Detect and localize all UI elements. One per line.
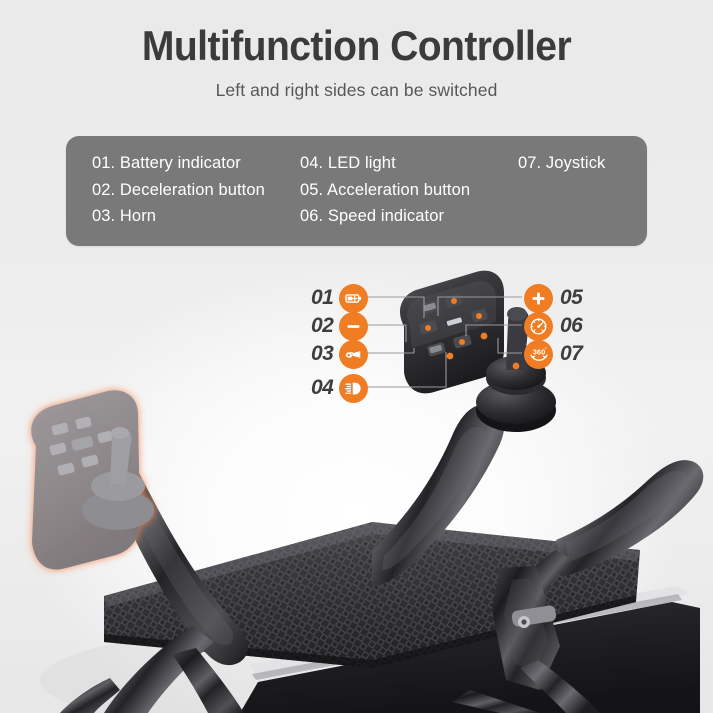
rotate-360-label: 360 xyxy=(532,347,545,356)
callout-06-number: 06 xyxy=(560,314,582,338)
callout-03-horn[interactable]: 03 xyxy=(311,339,368,369)
callout-06-speed-indicator[interactable]: 06 xyxy=(524,311,582,341)
callout-04-led-light[interactable]: 04 xyxy=(311,373,368,403)
callout-01-number: 01 xyxy=(311,286,339,310)
svg-text:°: ° xyxy=(544,347,546,352)
plus-icon xyxy=(524,284,553,313)
horn-icon xyxy=(339,340,368,369)
callout-04-number: 04 xyxy=(311,376,339,400)
callout-07-joystick[interactable]: 360 ° 07 xyxy=(524,339,582,369)
callout-05-number: 05 xyxy=(560,286,582,310)
callout-01-battery-indicator[interactable]: 01 xyxy=(311,283,368,313)
callout-diagram: 01 02 03 04 xyxy=(0,0,713,713)
callout-02-deceleration-button[interactable]: 02 xyxy=(311,311,368,341)
battery-icon xyxy=(339,284,368,313)
callout-03-number: 03 xyxy=(311,342,339,366)
headlight-icon xyxy=(339,374,368,403)
callout-05-acceleration-button[interactable]: 05 xyxy=(524,283,582,313)
callout-02-number: 02 xyxy=(311,314,339,338)
callout-07-number: 07 xyxy=(560,342,582,366)
speedometer-icon xyxy=(524,312,553,341)
rotate-360-icon: 360 ° xyxy=(524,340,553,369)
minus-icon xyxy=(339,312,368,341)
